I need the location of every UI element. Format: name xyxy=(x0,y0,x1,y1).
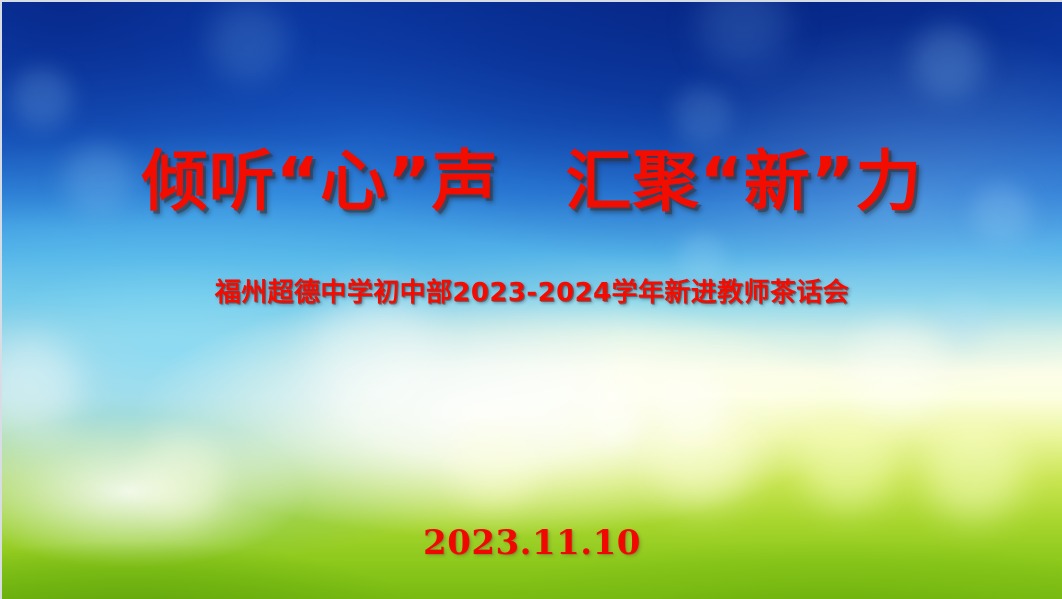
presentation-title-slide: 倾听“心”声 汇聚“新”力 福州超德中学初中部2023-2024学年新进教师茶话… xyxy=(0,0,1062,599)
slide-main-title: 倾听“心”声 汇聚“新”力 xyxy=(2,148,1062,215)
slide-text-layer: 倾听“心”声 汇聚“新”力 福州超德中学初中部2023-2024学年新进教师茶话… xyxy=(2,2,1062,599)
slide-subtitle: 福州超德中学初中部2023-2024学年新进教师茶话会 xyxy=(2,272,1062,309)
slide-date: 2023.11.10 xyxy=(2,523,1062,563)
